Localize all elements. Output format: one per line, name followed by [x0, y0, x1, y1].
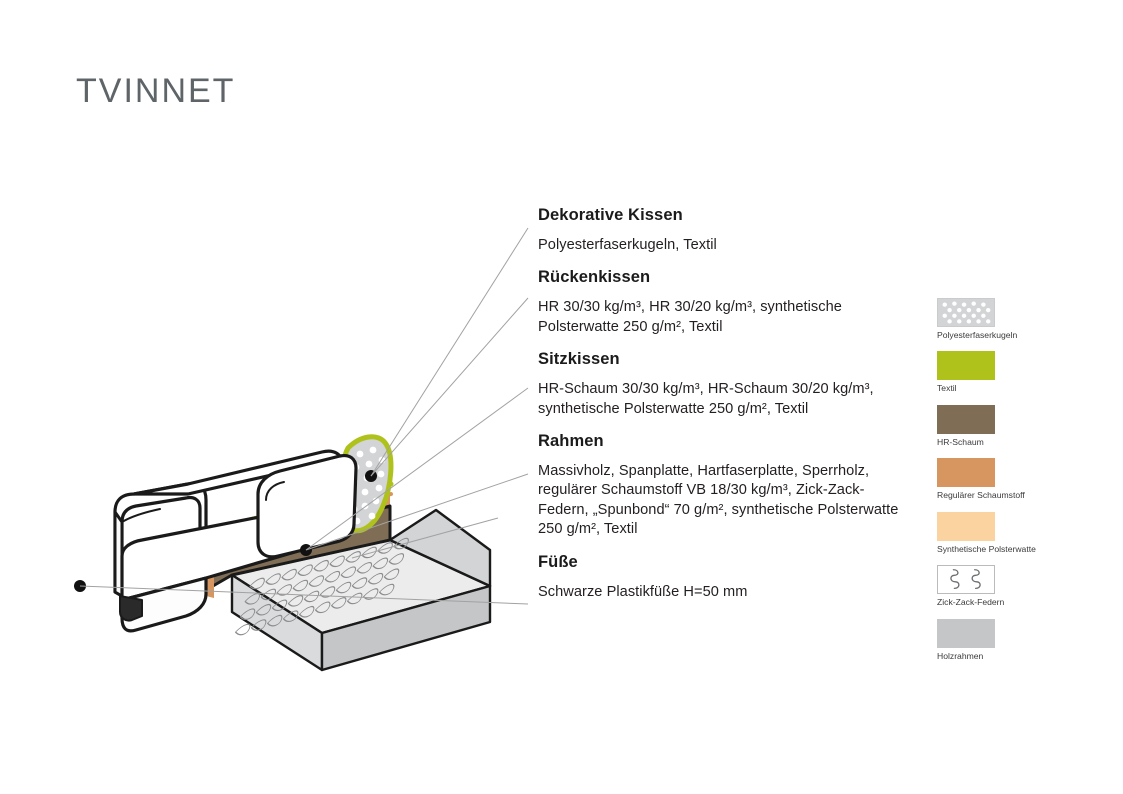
- spec-body-sitzkissen: HR-Schaum 30/30 kg/m³, HR-Schaum 30/20 k…: [538, 380, 910, 419]
- sofa-foot: [120, 596, 142, 621]
- spec-body-rueckenkissen: HR 30/30 kg/m³, HR 30/20 kg/m³, syntheti…: [538, 298, 910, 337]
- legend-swatch-synthetische-polsterwatte: [937, 512, 995, 541]
- legend-item-regulaerer-schaumstoff: Regulärer Schaumstoff: [937, 458, 1087, 500]
- spec-block-fuesse: Füße Schwarze Plastikfüße H=50 mm: [538, 553, 910, 602]
- page-title: TVINNET: [76, 72, 235, 111]
- zigzag-spring-icon: [938, 566, 994, 593]
- spec-body-dekorative-kissen: Polyesterfaserkugeln, Textil: [538, 236, 910, 255]
- legend-swatch-zick-zack-federn: [937, 565, 995, 594]
- legend-label-holzrahmen: Holzrahmen: [937, 652, 1087, 661]
- material-legend: Polyesterfaserkugeln Textil HR-Schaum Re…: [937, 298, 1087, 672]
- legend-item-holzrahmen: Holzrahmen: [937, 619, 1087, 661]
- spec-heading-rahmen: Rahmen: [538, 432, 910, 451]
- sofa-cutaway-illustration: [60, 390, 540, 710]
- spec-block-dekorative-kissen: Dekorative Kissen Polyesterfaserkugeln, …: [538, 206, 910, 255]
- spec-heading-dekorative-kissen: Dekorative Kissen: [538, 206, 910, 225]
- legend-item-hr-schaum: HR-Schaum: [937, 405, 1087, 447]
- legend-label-synthetische-polsterwatte: Synthetische Polsterwatte: [937, 545, 1087, 554]
- legend-label-textil: Textil: [937, 384, 1087, 393]
- legend-item-textil: Textil: [937, 351, 1087, 393]
- spec-heading-rueckenkissen: Rückenkissen: [538, 268, 910, 287]
- legend-item-polyesterfaserkugeln: Polyesterfaserkugeln: [937, 298, 1087, 340]
- legend-label-zick-zack-federn: Zick-Zack-Federn: [937, 598, 1087, 607]
- spec-heading-sitzkissen: Sitzkissen: [538, 350, 910, 369]
- legend-swatch-holzrahmen: [937, 619, 995, 648]
- spec-body-fuesse: Schwarze Plastikfüße H=50 mm: [538, 583, 910, 602]
- legend-swatch-textil: [937, 351, 995, 380]
- fiber-balls-pattern-icon: [938, 299, 994, 326]
- spec-heading-fuesse: Füße: [538, 553, 910, 572]
- specification-list: Dekorative Kissen Polyesterfaserkugeln, …: [538, 206, 910, 615]
- legend-swatch-regulaerer-schaumstoff: [937, 458, 995, 487]
- spec-block-rueckenkissen: Rückenkissen HR 30/30 kg/m³, HR 30/20 kg…: [538, 268, 910, 337]
- legend-label-regulaerer-schaumstoff: Regulärer Schaumstoff: [937, 491, 1087, 500]
- legend-item-zick-zack-federn: Zick-Zack-Federn: [937, 565, 1087, 607]
- spec-block-rahmen: Rahmen Massivholz, Spanplatte, Hartfaser…: [538, 432, 910, 540]
- spec-block-sitzkissen: Sitzkissen HR-Schaum 30/30 kg/m³, HR-Sch…: [538, 350, 910, 419]
- legend-swatch-hr-schaum: [937, 405, 995, 434]
- spec-body-rahmen: Massivholz, Spanplatte, Hartfaserplatte,…: [538, 462, 910, 540]
- legend-swatch-polyesterfaserkugeln: [937, 298, 995, 327]
- legend-item-synthetische-polsterwatte: Synthetische Polsterwatte: [937, 512, 1087, 554]
- document-page: TVINNET: [0, 0, 1123, 794]
- legend-label-polyesterfaserkugeln: Polyesterfaserkugeln: [937, 331, 1087, 340]
- legend-label-hr-schaum: HR-Schaum: [937, 438, 1087, 447]
